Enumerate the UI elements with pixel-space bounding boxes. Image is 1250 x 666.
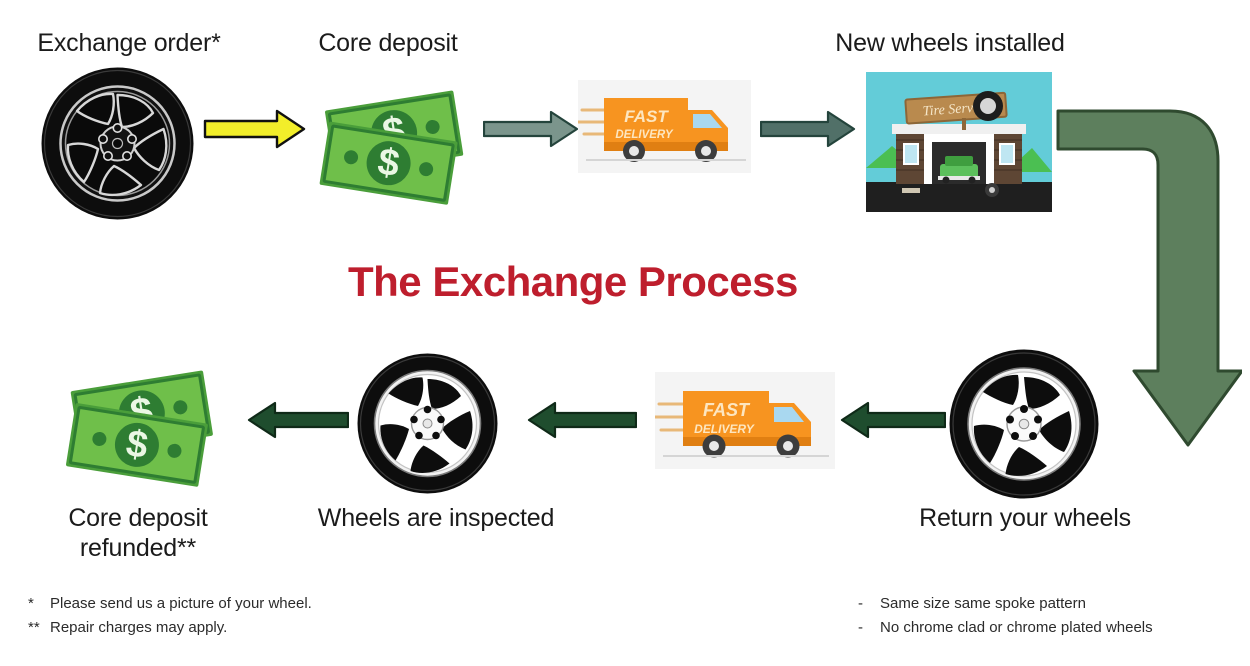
footnote-mark: * (28, 592, 50, 616)
step-label-return-your-wheels: Return your wheels (890, 503, 1160, 533)
arrow-deposit-to-truck (483, 110, 579, 148)
arrow-inspected-to-refund (247, 400, 349, 440)
footnotes-right: -Same size same spoke pattern -No chrome… (858, 592, 1153, 640)
footnote-text: No chrome clad or chrome plated wheels (880, 619, 1153, 636)
svg-text:FAST: FAST (703, 400, 751, 420)
step-label-exchange-order: Exchange order* (0, 28, 258, 58)
tire-service-shop-icon: Tire Service (866, 72, 1052, 212)
refund-label-line-2: refunded** (80, 534, 196, 562)
step-label-core-deposit-refunded: Core deposit refunded** (22, 503, 254, 563)
delivery-truck-icon-outbound: FAST DELIVERY (578, 80, 751, 173)
cash-icon-top: $ $ (310, 66, 478, 206)
arrow-truck-to-inspected (527, 400, 637, 440)
step-label-core-deposit: Core deposit (268, 28, 508, 58)
cash-icon-bottom: $ $ (56, 350, 232, 490)
page-title: The Exchange Process (348, 258, 798, 306)
footnote-mark: - (858, 616, 880, 640)
wheel-dark-icon (40, 66, 195, 221)
footnotes-left: *Please send us a picture of your wheel.… (28, 592, 312, 640)
footnote-left-1: *Please send us a picture of your wheel. (28, 592, 312, 616)
arrow-truck-to-shop (760, 110, 856, 148)
footnote-text: Please send us a picture of your wheel. (50, 595, 312, 612)
footnote-text: Same size same spoke pattern (880, 595, 1086, 612)
arrow-return-to-truck (840, 400, 946, 440)
svg-text:FAST: FAST (624, 107, 669, 126)
refund-label-line-1: Core deposit (68, 504, 207, 532)
delivery-truck-icon-return: FAST DELIVERY (655, 372, 835, 469)
footnote-left-2: **Repair charges may apply. (28, 616, 312, 640)
step-label-wheels-are-inspected: Wheels are inspected (300, 503, 572, 533)
svg-text:DELIVERY: DELIVERY (694, 422, 755, 436)
arrow-order-to-deposit (203, 108, 307, 150)
footnote-right-1: -Same size same spoke pattern (858, 592, 1153, 616)
wheel-light-icon-inspected (356, 352, 499, 495)
step-label-new-wheels-installed: New wheels installed (800, 28, 1100, 58)
footnote-mark: - (858, 592, 880, 616)
exchange-process-diagram: Exchange order* Core deposit New wheels … (0, 0, 1250, 666)
footnote-text: Repair charges may apply. (50, 619, 227, 636)
svg-text:DELIVERY: DELIVERY (615, 129, 674, 141)
footnote-right-2: -No chrome clad or chrome plated wheels (858, 616, 1153, 640)
wheel-light-icon-return (948, 348, 1100, 500)
footnote-mark: ** (28, 616, 50, 640)
